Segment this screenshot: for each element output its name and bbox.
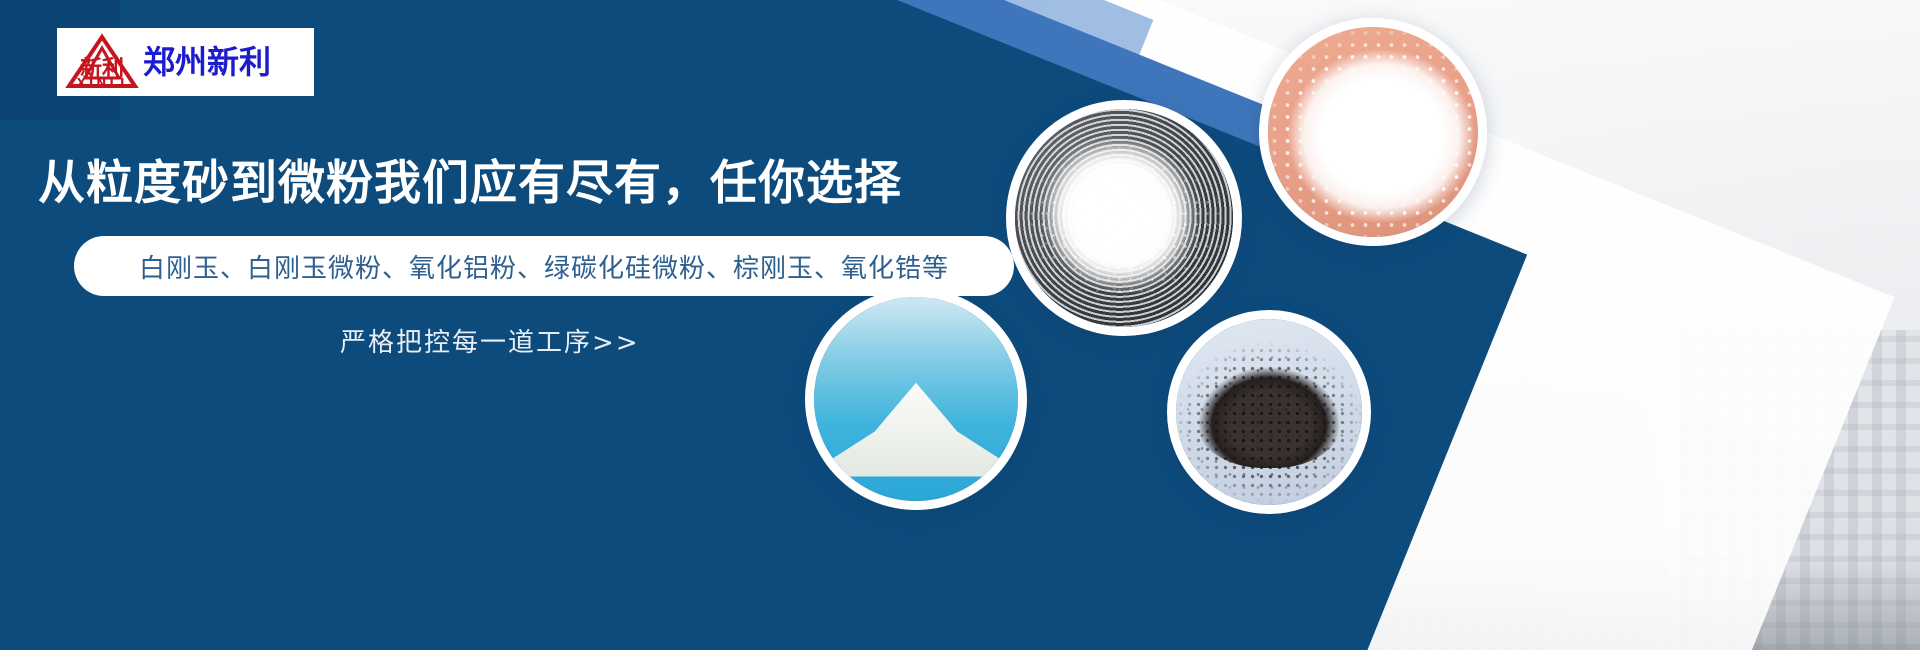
product-photo-aluminium-oxide-powder: [805, 288, 1027, 510]
product-photo-green-silicon-carbide-grit: [1167, 310, 1371, 514]
headline-text: 从粒度砂到微粉我们应有尽有，任你选择: [38, 144, 902, 213]
product-photo-white-fused-alumina-grit: [1006, 100, 1242, 336]
product-list-pill: 白刚玉、白刚玉微粉、氧化铝粉、绿碳化硅微粉、棕刚玉、氧化锆等: [74, 236, 1014, 296]
black-grain-texture: [1176, 319, 1362, 505]
company-logo[interactable]: 新利 XINLI 郑州新利: [57, 28, 314, 96]
tagline-link[interactable]: 严格把控每一道工序>>: [340, 322, 640, 359]
product-list-text: 白刚玉、白刚玉微粉、氧化铝粉、绿碳化硅微粉、棕刚玉、氧化锆等: [139, 248, 949, 285]
photo-surface: [1176, 319, 1362, 505]
white-grain-texture: [1015, 109, 1233, 327]
powder-speckle-texture: [1268, 27, 1478, 237]
photo-surface: [814, 297, 1018, 501]
photo-surface: [1015, 109, 1233, 327]
company-name-text: 郑州新利: [143, 46, 271, 78]
product-photo-alumina-micro-powder: [1259, 18, 1487, 246]
xinli-triangle-icon: 新利 XINLI: [65, 32, 139, 92]
photo-surface: [1268, 27, 1478, 237]
powder-cone-shape: [822, 383, 1010, 477]
promotional-banner: 新利 XINLI 郑州新利 从粒度砂到微粉我们应有尽有，任你选择 白刚玉、白刚玉…: [0, 0, 1920, 650]
logo-pinyin: XINLI: [65, 76, 139, 90]
